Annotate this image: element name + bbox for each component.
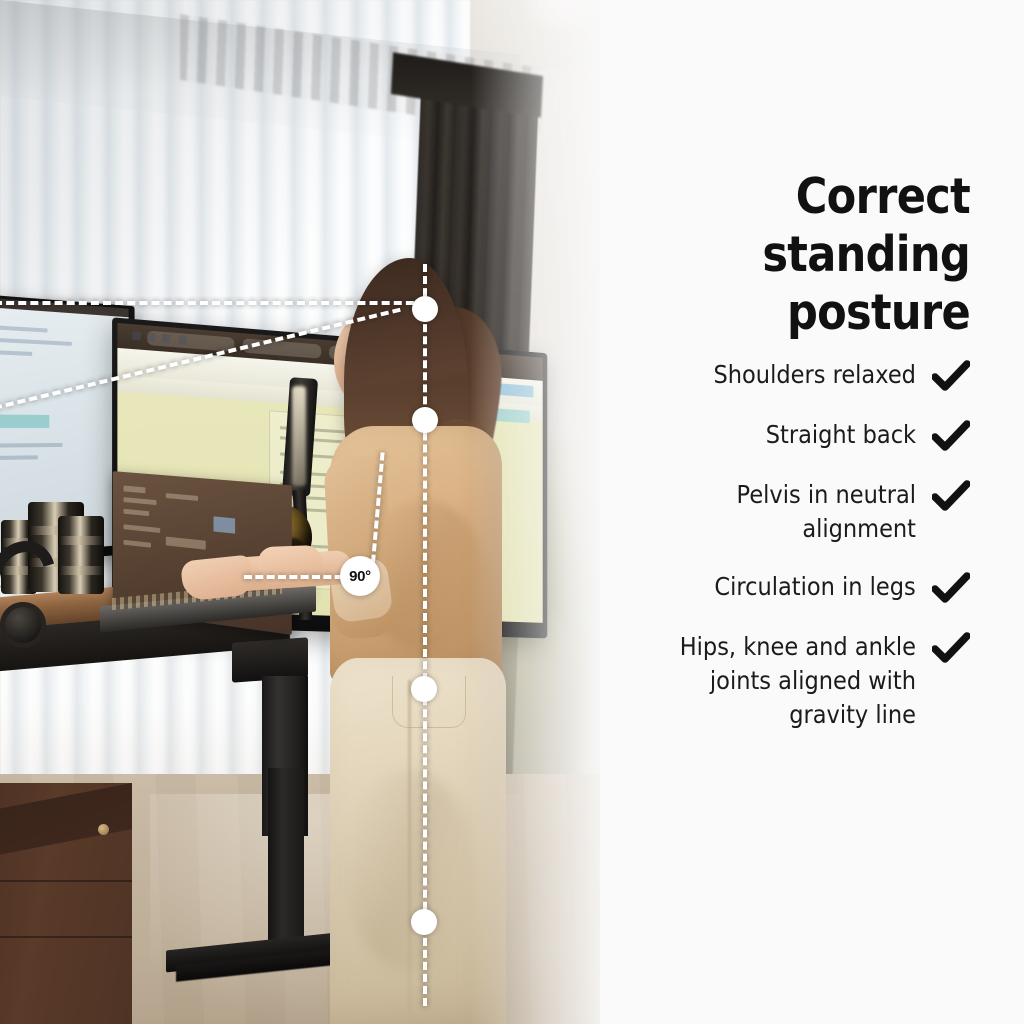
checklist-item-label: Circulation in legs	[715, 570, 916, 604]
poster-canvas: 90° Correct standing posture Shoulders r…	[0, 0, 1024, 1024]
checklist-item: Pelvis in neutral alignment	[600, 478, 970, 546]
checklist-item: Circulation in legs	[600, 570, 970, 606]
checklist: Shoulders relaxed Straight back Pelvis i…	[600, 358, 970, 756]
eye-level-line	[0, 301, 426, 305]
checklist-item: Shoulders relaxed	[600, 358, 970, 394]
page-title: Correct standing posture	[609, 168, 970, 342]
camera-lens	[58, 516, 104, 594]
elbow-angle-badge: 90°	[340, 556, 380, 596]
check-icon	[932, 480, 970, 514]
checklist-item-label: Pelvis in neutral alignment	[646, 478, 916, 546]
checklist-item-label: Shoulders relaxed	[714, 358, 916, 392]
checklist-item: Hips, knee and ankle joints aligned with…	[600, 630, 970, 732]
title-line-2: posture	[609, 284, 970, 342]
hand-right	[257, 545, 322, 585]
cabinet-drawer-line	[0, 936, 132, 938]
info-panel: Correct standing posture Shoulders relax…	[600, 0, 1024, 1024]
headphones	[0, 540, 64, 650]
checklist-item-label: Hips, knee and ankle joints aligned with…	[646, 630, 916, 732]
cabinet-drawer-line	[0, 880, 132, 882]
photo-standing-desk-scene: 90°	[0, 0, 640, 1024]
checklist-item-label: Straight back	[766, 418, 916, 452]
check-icon	[932, 360, 970, 394]
joint-marker-knee	[411, 909, 437, 935]
joint-marker-hip	[411, 676, 437, 702]
trouser-fold	[344, 770, 474, 970]
title-line-1: Correct standing	[609, 168, 970, 284]
person-standing	[300, 250, 560, 1024]
check-icon	[932, 632, 970, 666]
gravity-line	[423, 264, 427, 1006]
check-icon	[932, 420, 970, 454]
joint-marker-ear	[412, 296, 438, 322]
cabinet-lock	[98, 824, 109, 835]
checklist-item: Straight back	[600, 418, 970, 454]
check-icon	[932, 572, 970, 606]
desk-column-lower	[268, 768, 304, 948]
joint-marker-shoulder	[412, 407, 438, 433]
forearm-line	[244, 575, 354, 579]
